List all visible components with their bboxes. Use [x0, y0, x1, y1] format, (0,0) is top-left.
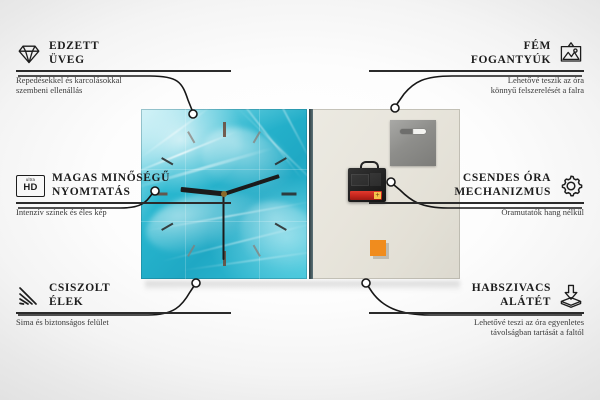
clock-tick [187, 131, 195, 143]
arrow-down-pad-icon [558, 283, 584, 309]
callout-silent-mechanism: CSENDES ÓRA MECHANIZMUS Óramutatók hang … [369, 172, 584, 217]
ultra-hd-icon: ultra HD [16, 175, 45, 197]
callout-metal-hooks: FÉM FOGANTYÚK Lehetővé teszik az óra kön… [369, 40, 584, 96]
callout-description: Intenzív színek és éles kép [16, 207, 231, 218]
callout-divider [369, 70, 584, 72]
callout-description: Lehetővé teszi az óra egyenletes távolsá… [369, 317, 584, 338]
callout-description: Lehetővé teszik az óra könnyű felszerelé… [369, 75, 584, 96]
metal-hanger-plate [390, 120, 436, 166]
callout-divider [16, 312, 231, 314]
callout-title: MAGAS MINŐSÉGŰ NYOMTATÁS [52, 172, 170, 199]
glass-seam [141, 169, 307, 170]
picture-frame-hanger-icon [558, 41, 584, 67]
foam-pad [370, 240, 386, 256]
callout-divider [16, 70, 231, 72]
callout-description: Repedésekkel és karcolásokkal szembeni e… [16, 75, 231, 96]
glass-edge [309, 109, 313, 279]
gear-icon [558, 173, 584, 199]
diamond-icon [16, 41, 42, 67]
callout-title: CSENDES ÓRA MECHANIZMUS [454, 172, 551, 199]
callout-divider [16, 202, 231, 204]
callout-title: CSISZOLT ÉLEK [49, 282, 110, 309]
callout-description: Óramutatók hang nélkül [369, 207, 584, 218]
hanger-slot [400, 129, 426, 134]
callout-title: EDZETT ÜVEG [49, 40, 99, 67]
callout-high-quality-print: ultra HD MAGAS MINŐSÉGŰ NYOMTATÁS Intenz… [16, 172, 231, 217]
callout-title: HABSZIVACS ALÁTÉT [472, 282, 551, 309]
callout-polished-edges: CSISZOLT ÉLEK Sima és biztonságos felüle… [16, 282, 231, 327]
callout-title: FÉM FOGANTYÚK [471, 40, 551, 67]
mechanism-detail [351, 174, 369, 186]
callout-foam-pad: HABSZIVACS ALÁTÉT Lehetővé teszi az óra … [369, 282, 584, 338]
clock-tick [223, 122, 226, 137]
callout-description: Sima és biztonságos felület [16, 317, 231, 328]
infographic-canvas: + [0, 0, 600, 400]
callout-divider [369, 312, 584, 314]
callout-divider [369, 202, 584, 204]
clock-tick [282, 193, 297, 196]
callout-tempered-glass: EDZETT ÜVEG Repedésekkel és karcolásokka… [16, 40, 231, 96]
diagonal-lines-icon [16, 283, 42, 309]
